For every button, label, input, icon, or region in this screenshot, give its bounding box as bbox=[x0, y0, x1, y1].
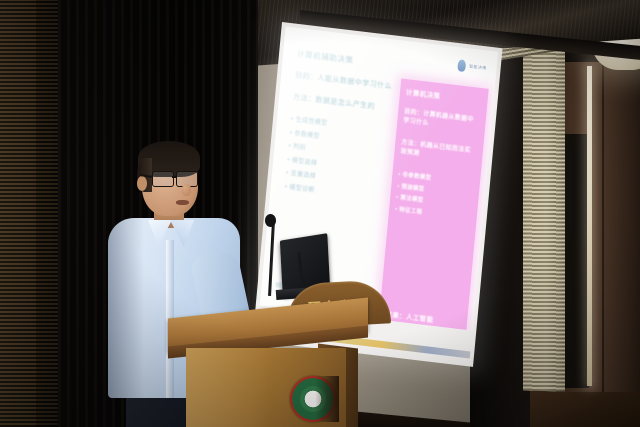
panel-bullet-list: • 非参数模型 • 预测模型 • 算法模型 • 特征工程 bbox=[395, 170, 474, 221]
speaker-mouth bbox=[176, 200, 189, 205]
slide-highlight-panel: 计算机决策 目的：计算机器从数据中学习什么 方法：机器从已知而法实现预测 • 非… bbox=[378, 79, 488, 331]
wood-wall-seam bbox=[602, 62, 604, 392]
left-wall-panel-inner bbox=[36, 0, 58, 427]
lecture-hall-photo: 智能决策 计算机辅助决策 目的：人能从数据中学习什么 方法：数据是怎么产生的 •… bbox=[0, 0, 640, 427]
glasses-lens-left bbox=[152, 171, 174, 187]
microphone-head-icon bbox=[265, 214, 276, 227]
left-wall-panel bbox=[0, 0, 36, 427]
panel-method-line: 方法：机器从已知而法实现预测 bbox=[400, 139, 477, 166]
shirt-shadow bbox=[108, 218, 144, 398]
emblem-shadow bbox=[315, 376, 339, 422]
podium: 研究生院 bbox=[168, 296, 368, 427]
podium-body-highlight bbox=[186, 348, 268, 427]
speaker-nose bbox=[182, 184, 191, 196]
glasses-icon bbox=[152, 171, 198, 186]
panel-purpose-line: 目的：计算机器从数据中学习什么 bbox=[403, 108, 480, 135]
panel-footer: 结果：人工智能 bbox=[385, 308, 434, 324]
panel-title: 计算机决策 bbox=[406, 86, 482, 105]
lamp-light-strip bbox=[587, 66, 592, 386]
glasses-bridge bbox=[172, 176, 177, 178]
beige-column bbox=[523, 46, 565, 392]
speaker-ear bbox=[137, 176, 147, 191]
